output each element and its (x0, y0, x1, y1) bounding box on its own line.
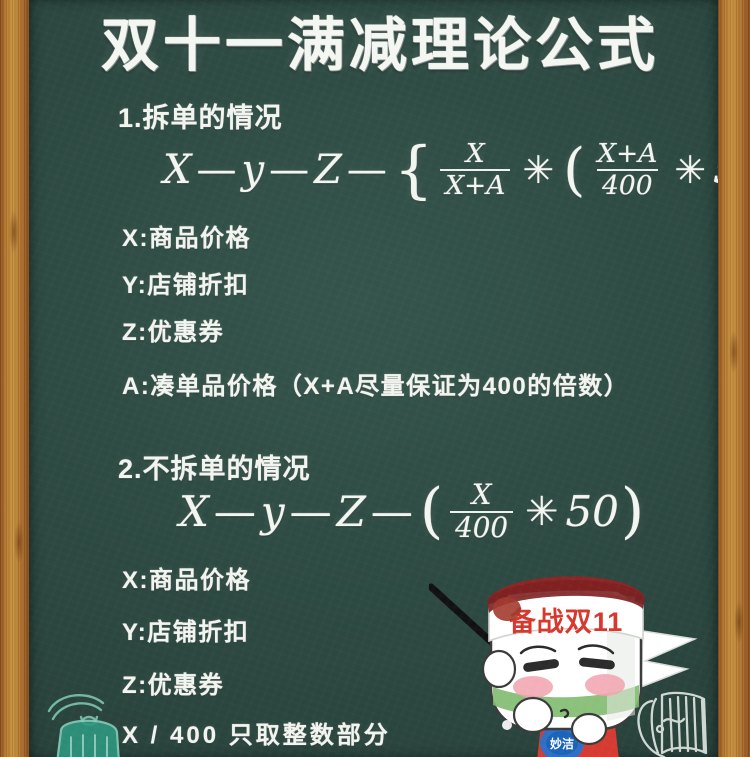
formula-token-y: y (261, 487, 285, 536)
mascot-headband-text: 备战双11 (508, 607, 624, 637)
formula-token-z: Z (314, 147, 342, 193)
definition-x-price-2: X:商品价格 (122, 560, 251, 595)
formula-token-brace-open: { (392, 133, 435, 206)
section-heading-split-order: 1.拆单的情况 (118, 96, 283, 135)
formula-token-minus-1: — (209, 487, 261, 536)
fraction-denominator: X+A (440, 169, 510, 199)
fraction-numerator: X (467, 481, 497, 511)
fraction-numerator: X+A (592, 140, 662, 168)
formula-token-x: X (163, 147, 191, 193)
fraction-denominator: 400 (450, 511, 513, 543)
formula-token-asterisk-1: ✳ (515, 148, 561, 192)
chalkboard-surface: 双十一满减理论公式 1.拆单的情况 X — y — Z — { X X+A ✳ … (29, 0, 718, 757)
mascot-blush-right (585, 674, 625, 696)
formula-no-split-order: X — y — Z — ( X 400 ✳ 50 ) (179, 477, 646, 546)
formula-fraction-x-plus-a-over-400: X+A 400 (592, 140, 662, 199)
definition-y-shop-discount: Y:店铺折扣 (122, 265, 249, 300)
formula-token-z: Z (337, 487, 366, 536)
fraction-denominator: 400 (597, 169, 657, 199)
formula-token-paren-open: ( (418, 477, 445, 546)
formula-token-y: y (241, 147, 264, 193)
note-integer-part-only: X / 400 只取整数部分 (122, 715, 391, 750)
definition-x-price: X:商品价格 (122, 218, 251, 253)
formula-token-fifty: 50 (713, 147, 718, 193)
formula-token-minus-3: — (366, 487, 418, 536)
definition-y-shop-discount-2: Y:店铺折扣 (122, 612, 249, 647)
definition-a-filler-price: A:凑单品价格（X+A尽量保证为400的倍数） (122, 366, 629, 401)
definition-z-coupon: Z:优惠券 (122, 312, 224, 347)
formula-token-paren-close: ) (619, 477, 646, 546)
mascot-character: 妙洁 备战双11 (429, 565, 718, 757)
formula-split-order: X — y — Z — { X X+A ✳ ( X+A 400 ✳ 50 ) } (163, 133, 718, 206)
formula-token-minus-2: — (264, 147, 314, 193)
mascot-hand-right (514, 698, 552, 732)
mascot-blush-left (513, 676, 553, 698)
formula-fraction-x-over-x-plus-a: X X+A (440, 140, 510, 199)
formula-token-paren-open: ( (561, 137, 587, 203)
wood-frame-right (718, 0, 750, 757)
mascot-hand-left (483, 651, 515, 687)
mascot-badge-text: 妙洁 (550, 736, 574, 751)
wood-frame-left (0, 0, 29, 757)
formula-token-fifty: 50 (565, 487, 618, 536)
formula-token-minus-2: — (285, 487, 337, 536)
blackboard-infographic: 双十一满减理论公式 1.拆单的情况 X — y — Z — { X X+A ✳ … (0, 0, 750, 757)
chalk-dot (502, 720, 512, 730)
paper-flag (641, 631, 695, 687)
page-title: 双十一满减理论公式 (101, 0, 659, 82)
chalk-clock-drawing (31, 677, 151, 757)
mascot-hand-front (572, 714, 606, 744)
fraction-numerator: X (461, 140, 490, 168)
formula-fraction-x-over-400: X 400 (450, 481, 513, 543)
formula-token-minus-1: — (191, 147, 241, 193)
formula-token-x: X (179, 487, 209, 536)
formula-token-asterisk-2: ✳ (667, 148, 713, 192)
formula-token-minus-3: — (342, 147, 392, 193)
formula-token-asterisk: ✳ (518, 489, 565, 535)
